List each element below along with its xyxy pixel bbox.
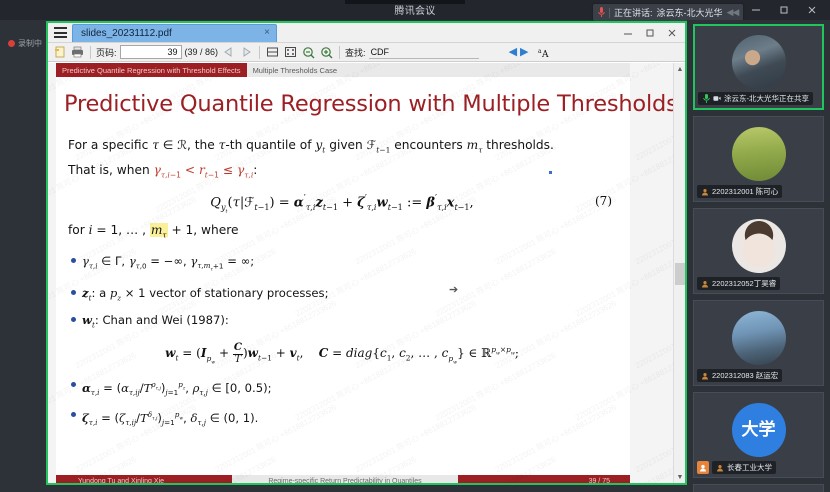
participant-name: 涂云东-北大光华正在共享 [724,93,809,104]
participant-nameplate: 2202312052丁昊睿 [697,277,780,290]
slide-title: Predictive Quantile Regression with Mult… [64,91,678,117]
find-next-icon[interactable]: ▶ [520,47,528,58]
participant-name: 2202312001 陈可心 [712,186,778,197]
page-total-label: (39 / 86) [185,47,219,57]
list-item: zt: a pz × 1 vector of stationary proces… [82,282,616,309]
list-item: γτ,i ∈ Γ, γτ,0 = −∞, γτ,mτ+1 = ∞; [82,250,616,282]
slide-equation-w: wt = (Ipw + CT)wt−1 + vt, C = diag{c1, c… [68,342,616,365]
pdf-close-icon[interactable] [661,23,683,42]
host-badge-icon [697,461,709,474]
person-icon [701,187,709,196]
pdf-tab-title: slides_20231112.pdf [73,28,172,39]
svg-text:A: A [541,50,549,59]
person-icon [716,463,724,472]
highlighted-term: mτ [150,223,168,237]
slide-header-subsection: Multiple Thresholds Case [247,63,344,77]
record-dot-icon [8,40,15,47]
slide-bullet-list-bottom: ατ,i = (ατ,ij/Tρτ,j)j=1pz, ρτ,j ∈ [0, 0.… [82,374,616,434]
maximize-icon[interactable] [770,0,798,20]
pdf-tab-close-icon[interactable]: × [264,27,270,38]
text-select-icon[interactable]: aA [537,45,552,60]
page-number-label: 页码: [96,46,117,59]
tencent-meeting-window: 腾讯会议 正在讲话: 涂云东-北大光华 ◀◀ 录制中 [0,0,830,492]
menu-icon[interactable] [54,27,67,38]
avatar [732,127,786,181]
toolbar-separator-2 [259,46,260,59]
pdf-maximize-icon[interactable] [639,23,661,42]
scrollbar-thumb[interactable] [675,263,685,285]
slide-footer-page: 39 / 75 [458,475,630,483]
slide-navigation-header: Predictive Quantile Regression with Thre… [56,63,630,77]
participant-tile[interactable]: 2202312001 陈可心 [693,116,824,202]
slide-line-3: for i = 1, … , mτ + 1, where [68,220,616,245]
next-view-icon[interactable] [239,45,254,60]
page-number-input[interactable] [120,45,182,59]
camera-icon [713,94,721,103]
avatar-initials: 大学 [732,403,786,457]
slide-line-2: That is, when γτ,i−1 < rt−1 ≤ γτ,i: [68,160,616,185]
find-label: 查找: [345,46,366,59]
print-icon[interactable] [70,45,85,60]
annotation-dot [549,171,552,174]
slide-body: For a specific τ ∈ ℛ, the τ-th quantile … [68,135,616,434]
list-item: ατ,i = (ατ,ij/Tρτ,j)j=1pz, ρτ,j ∈ [0, 0.… [82,374,616,404]
slide-line-1: For a specific τ ∈ ℛ, the τ-th quantile … [68,135,616,160]
pdf-minimize-icon[interactable] [617,23,639,42]
slide-footer: Yundong Tu and Xinling Xie Regime-specif… [56,475,630,483]
participant-nameplate: 涂云东-北大光华正在共享 [698,92,813,105]
person-icon [701,371,709,380]
participant-rail[interactable]: 涂云东-北大光华正在共享2202312001 陈可心2202312052丁昊睿2… [687,20,830,492]
speaking-name-label: 涂云东-北大光华 [657,6,723,19]
person-icon [701,279,709,288]
new-document-icon[interactable] [52,45,67,60]
participant-tile[interactable]: 杨凯-长春工业大学 [693,484,824,492]
previous-view-icon[interactable] [221,45,236,60]
participant-tile[interactable]: 2202312083 赵运宏 [693,300,824,386]
close-icon[interactable] [798,0,826,20]
slide-header-section: Predictive Quantile Regression with Thre… [56,63,247,77]
avatar [732,219,786,273]
microphone-icon [598,7,605,19]
list-item: ζτ,i = (ζτ,ij/Tδτ,j)j=1pw, δτ,j ∈ (0, 1)… [82,404,616,434]
slide-footer-title: Regime-specific Return Predictability in… [232,475,458,483]
zoom-in-icon[interactable] [319,45,334,60]
slide-bullet-list-top: γτ,i ∈ Γ, γτ,0 = −∞, γτ,mτ+1 = ∞; zt: a … [82,250,616,336]
speaking-prefix-label: 正在讲话: [614,6,653,19]
slide-page: Predictive Quantile Regression with Thre… [56,63,630,483]
equation-7-number: (7) [595,194,612,208]
slide-footer-authors: Yundong Tu and Xinling Xie [56,475,232,483]
pdf-vertical-scrollbar[interactable]: ▲ ▼ [673,63,685,483]
participant-nameplate: 长春工业大学 [712,461,776,474]
list-item: wt: Chan and Wei (1987): [82,309,616,336]
participant-name: 长春工业大学 [727,462,772,473]
fit-page-icon[interactable] [283,45,298,60]
participant-tile[interactable]: 2202312052丁昊睿 [693,208,824,294]
slide-equation-7: Qyt(τ|ℱt−1) = α′τ,izt−1 + ζ′τ,iwt−1 := β… [68,194,616,215]
participant-nameplate: 2202312001 陈可心 [697,185,782,198]
fit-width-icon[interactable] [265,45,280,60]
avatar [732,311,786,365]
pill-divider [609,8,610,18]
avatar [732,35,786,89]
find-previous-icon[interactable]: ◀ [509,47,517,58]
minimize-icon[interactable] [742,0,770,20]
audio-wave-icon: ◀◀ [727,7,739,18]
toolbar-separator-3 [339,46,340,59]
pdf-tabstrip: slides_20231112.pdf × [48,23,685,43]
meeting-window-controls [742,0,826,20]
scroll-up-icon[interactable]: ▲ [674,63,686,75]
recording-indicator: 录制中 [8,38,42,49]
zoom-out-icon[interactable] [301,45,316,60]
pdf-tab[interactable]: slides_20231112.pdf × [72,24,277,42]
avatar: 大学 [732,403,786,457]
shared-screen-content: slides_20231112.pdf × [48,23,685,483]
microphone-icon [702,94,710,103]
shared-screen-frame: slides_20231112.pdf × [46,21,687,485]
scroll-down-icon[interactable]: ▼ [674,471,686,483]
participant-name: 2202312052丁昊睿 [712,278,776,289]
active-speaker-indicator: 正在讲话: 涂云东-北大光华 ◀◀ [593,4,743,21]
participant-name: 2202312083 赵运宏 [712,370,778,381]
find-input[interactable] [369,45,479,59]
mouse-cursor-icon: ➔ [449,283,458,296]
pdf-window-controls [617,23,683,42]
participant-nameplate: 2202312083 赵运宏 [697,369,782,382]
toolbar-separator [90,46,91,59]
participant-tile[interactable]: 涂云东-北大光华正在共享 [693,24,824,110]
pdf-toolbar: 页码: (39 / 86) [48,43,685,62]
pdf-page-view[interactable]: Predictive Quantile Regression with Thre… [48,63,685,483]
participant-tile[interactable]: 大学长春工业大学 [693,392,824,478]
recording-label: 录制中 [18,38,42,49]
